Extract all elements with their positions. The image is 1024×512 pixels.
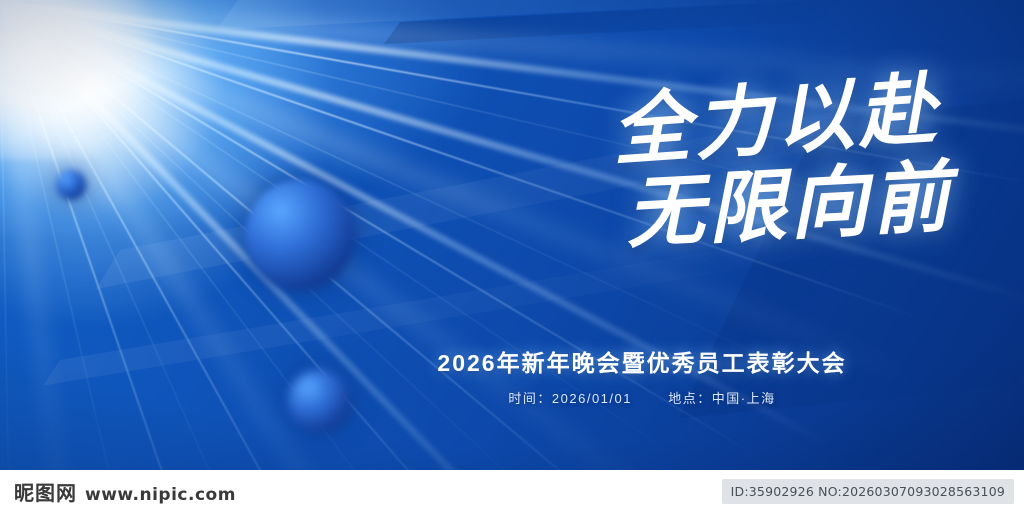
site-brand: 昵图网 www.nipic.com xyxy=(0,477,236,506)
sphere-large-left xyxy=(245,180,355,290)
poster-image: 全力以赴 无限向前 2026年新年晚会暨优秀员工表彰大会 时间：2026/01/… xyxy=(0,0,1024,470)
poster-meta: 时间：2026/01/01 地点：中国·上海 xyxy=(372,388,912,407)
asset-id-badge: ID:35902926 NO:20260307093028563109 xyxy=(722,479,1014,504)
meta-place: 地点：中国·上海 xyxy=(668,391,775,406)
poster-subtitle: 2026年新年晚会暨优秀员工表彰大会 xyxy=(332,344,952,378)
footer-bar: 昵图网 www.nipic.com ID:35902926 NO:2026030… xyxy=(0,470,1024,512)
meta-time: 时间：2026/01/01 xyxy=(508,391,632,406)
poster-screenshot: 全力以赴 无限向前 2026年新年晚会暨优秀员工表彰大会 时间：2026/01/… xyxy=(0,0,1024,512)
light-core-hotspot xyxy=(0,0,170,160)
brand-name-cn: 昵图网 xyxy=(14,477,77,506)
poster-headline: 全力以赴 无限向前 xyxy=(434,86,954,252)
sphere-small-upper-left xyxy=(56,170,86,200)
sphere-medium-lower-left xyxy=(288,370,350,432)
brand-url: www.nipic.com xyxy=(85,485,236,505)
